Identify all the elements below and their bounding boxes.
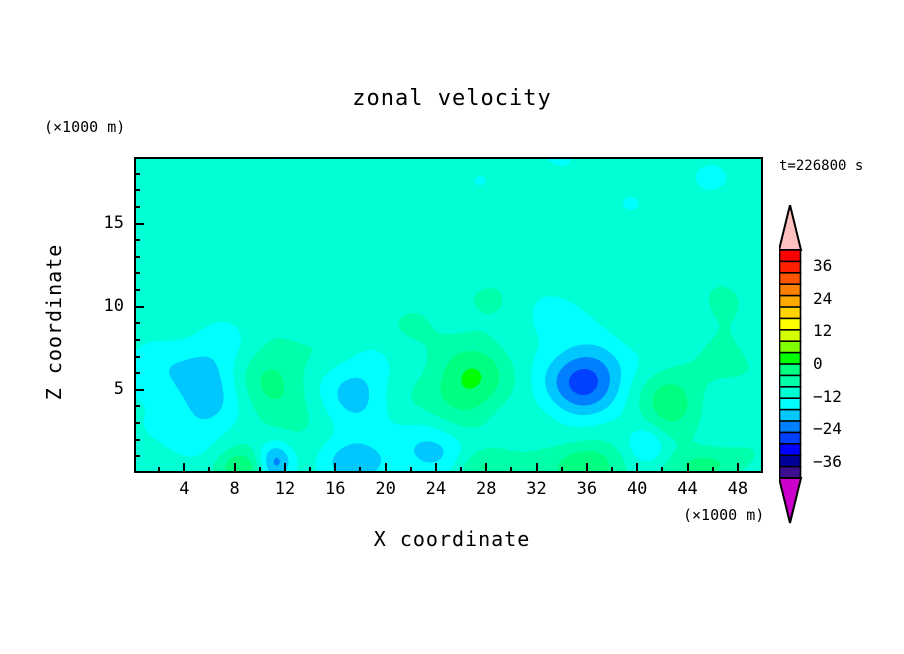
axis-tick (134, 389, 144, 391)
axis-tick (385, 463, 387, 473)
axis-tick (309, 467, 311, 473)
colorbar-band (780, 273, 801, 285)
axis-tick (334, 463, 336, 473)
y-tick-label: 5 (84, 379, 124, 399)
axis-tick (134, 372, 140, 374)
contour-plot-canvas (134, 157, 763, 473)
colorbar-band (780, 284, 801, 296)
x-axis-title: X coordinate (0, 527, 904, 551)
axis-tick (134, 322, 140, 324)
colorbar-band (780, 398, 801, 410)
x-tick-label: 44 (668, 479, 708, 499)
axis-tick (134, 455, 140, 457)
axis-tick (134, 405, 140, 407)
axis-tick (410, 467, 412, 473)
colorbar-band (780, 341, 801, 353)
page-title: zonal velocity (0, 86, 904, 111)
x-tick-label: 32 (517, 479, 557, 499)
axis-tick (661, 467, 663, 473)
y-axis-units-label: (×1000 m) (44, 118, 125, 136)
axis-tick (134, 339, 140, 341)
axis-tick (134, 306, 144, 308)
axis-tick (208, 467, 210, 473)
timestamp-annotation: t=226800 s (779, 158, 863, 174)
axis-tick (134, 239, 140, 241)
colorbar[interactable]: 3624120−12−24−36 (779, 205, 899, 531)
colorbar-band (780, 250, 801, 262)
colorbar-band (780, 307, 801, 319)
colorbar-over-cap (779, 205, 801, 250)
axis-tick (134, 256, 140, 258)
axis-tick (158, 467, 160, 473)
axis-tick (636, 463, 638, 473)
axis-tick (134, 289, 140, 291)
axis-tick (536, 463, 538, 473)
x-tick-label: 24 (416, 479, 456, 499)
axis-tick (712, 467, 714, 473)
axis-tick (485, 463, 487, 473)
axis-tick (134, 422, 140, 424)
colorbar-band (780, 432, 801, 444)
colorbar-band (780, 455, 801, 467)
axis-tick (737, 463, 739, 473)
x-tick-label: 4 (164, 479, 204, 499)
axis-tick (134, 439, 140, 441)
colorbar-tick-label: 12 (813, 321, 832, 340)
axis-tick (134, 223, 144, 225)
y-axis-title: Z coordinate (42, 242, 66, 402)
colorbar-band (780, 444, 801, 456)
colorbar-band (780, 467, 801, 479)
axis-tick (134, 173, 140, 175)
contour-field (134, 157, 763, 473)
colorbar-tick-label: 0 (813, 354, 823, 373)
colorbar-tick-label: −24 (813, 419, 842, 438)
colorbar-band (780, 261, 801, 273)
axis-tick (134, 189, 140, 191)
x-axis-units-label: (×1000 m) (683, 506, 764, 524)
axis-tick (359, 467, 361, 473)
x-tick-label: 36 (567, 479, 607, 499)
axis-tick (259, 467, 261, 473)
axis-tick (134, 272, 140, 274)
y-tick-label: 10 (84, 296, 124, 316)
colorbar-band (780, 364, 801, 376)
axis-tick (284, 463, 286, 473)
x-tick-label: 28 (466, 479, 506, 499)
x-tick-label: 8 (215, 479, 255, 499)
axis-tick (460, 467, 462, 473)
x-tick-label: 40 (617, 479, 657, 499)
axis-tick (435, 463, 437, 473)
colorbar-band (780, 318, 801, 330)
colorbar-svg (779, 205, 899, 527)
axis-tick (510, 467, 512, 473)
axis-tick (687, 463, 689, 473)
x-tick-label: 48 (718, 479, 758, 499)
axis-tick (234, 463, 236, 473)
colorbar-under-cap (779, 478, 801, 523)
x-tick-label: 20 (366, 479, 406, 499)
axis-tick (586, 463, 588, 473)
colorbar-band (780, 421, 801, 433)
colorbar-band (780, 330, 801, 342)
x-tick-label: 12 (265, 479, 305, 499)
colorbar-tick-label: −12 (813, 387, 842, 406)
colorbar-tick-label: 36 (813, 256, 832, 275)
colorbar-tick-label: 24 (813, 289, 832, 308)
axis-tick (134, 356, 140, 358)
axis-tick (611, 467, 613, 473)
axis-tick (183, 463, 185, 473)
colorbar-band (780, 375, 801, 387)
colorbar-band (780, 296, 801, 308)
y-tick-label: 15 (84, 213, 124, 233)
x-tick-label: 16 (315, 479, 355, 499)
colorbar-band (780, 410, 801, 422)
colorbar-tick-label: −36 (813, 452, 842, 471)
colorbar-band (780, 353, 801, 365)
axis-tick (561, 467, 563, 473)
axis-tick (134, 206, 140, 208)
colorbar-band (780, 387, 801, 399)
